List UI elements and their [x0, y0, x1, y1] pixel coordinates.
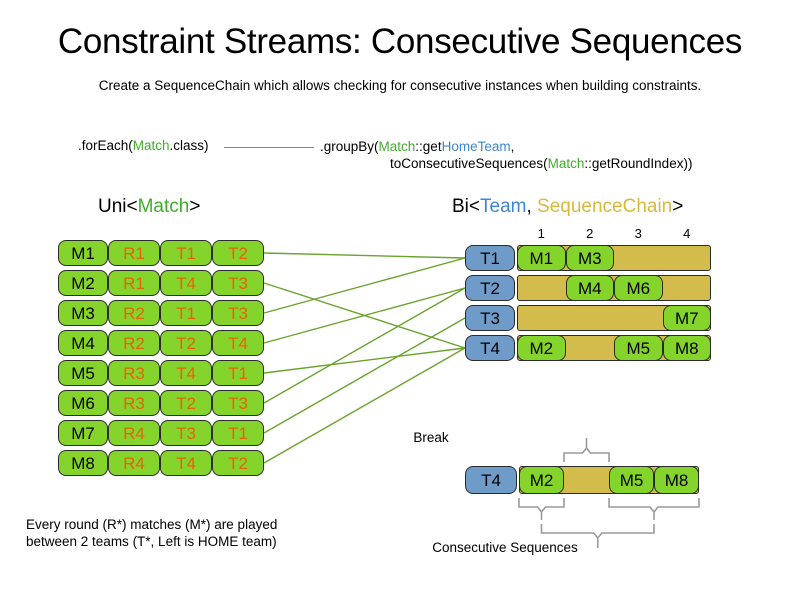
uni-cell-home-team-2: T4: [160, 270, 212, 296]
uni-cell-away-team-6-text: T3: [228, 395, 248, 412]
uni-cell-away-team-8: T2: [212, 450, 264, 476]
uni-cell-home-team-2-text: T4: [176, 275, 196, 292]
uni-cell-match-4: M4: [58, 330, 108, 356]
uni-cell-match-6: M6: [58, 390, 108, 416]
code-groupby-prop: HomeTeam: [442, 139, 511, 154]
uni-cell-away-team-1: T2: [212, 240, 264, 266]
bi-cell-T4-3: M5: [614, 335, 663, 361]
uni-cell-home-team-4-text: T2: [176, 335, 196, 352]
detail-cell-3: M5: [609, 466, 654, 494]
uni-cell-round-6: R3: [108, 390, 160, 416]
break-label: Break: [0, 430, 800, 445]
code-tocs-suffix: ::getRoundIndex)): [584, 156, 692, 171]
uni-header-prefix: Uni<: [98, 196, 138, 217]
connector-M8-to-T4: [264, 348, 465, 463]
code-groupby: .groupBy(Match::getHomeTeam,toConsecutiv…: [320, 138, 692, 172]
bi-header-value-type: SequenceChain: [537, 196, 672, 217]
bi-team-T3: T3: [465, 305, 515, 331]
uni-header-suffix: >: [189, 196, 200, 217]
detail-team-box: T4: [465, 466, 517, 494]
detail-cell-4-text: M8: [665, 472, 689, 489]
code-groupby-line2: toConsecutiveSequences(Match::getRoundIn…: [320, 155, 692, 172]
uni-cell-home-team-5: T4: [160, 360, 212, 386]
bi-cell-T2-3-text: M6: [626, 280, 650, 297]
code-groupby-comma: ,: [511, 139, 515, 154]
brace-break: [564, 448, 609, 462]
uni-cell-home-team-3-text: T1: [176, 305, 196, 322]
bi-team-T3-text: T3: [480, 310, 500, 327]
uni-cell-away-team-8-text: T2: [228, 455, 248, 472]
connector-M1-to-T1: [264, 253, 465, 258]
uni-cell-home-team-8: T4: [160, 450, 212, 476]
brace-seq-2: [609, 498, 699, 512]
uni-cell-round-3-text: R2: [123, 305, 145, 322]
code-groupby-mid: ::get: [415, 139, 441, 154]
slide-canvas: Constraint Streams: Consecutive Sequence…: [0, 0, 800, 600]
code-groupby-prefix: .groupBy(: [320, 139, 379, 154]
uni-cell-match-2-text: M2: [71, 275, 95, 292]
bi-team-T1-text: T1: [480, 250, 500, 267]
detail-cell-3-text: M5: [620, 472, 644, 489]
uni-cell-away-team-5: T1: [212, 360, 264, 386]
bi-cell-T3-4-text: M7: [675, 310, 699, 327]
uni-cell-home-team-6: T2: [160, 390, 212, 416]
uni-cell-round-2: R1: [108, 270, 160, 296]
bi-cell-T1-2: M3: [566, 245, 615, 271]
detail-cell-1-text: M2: [530, 472, 554, 489]
uni-cell-match-5: M5: [58, 360, 108, 386]
code-foreach-type: Match: [133, 138, 170, 153]
uni-cell-home-team-1: T1: [160, 240, 212, 266]
bi-cell-T4-4: M8: [663, 335, 712, 361]
connector-M7-to-T3: [264, 318, 465, 433]
bi-column-header-3: 3: [626, 226, 650, 241]
uni-cell-home-team-1-text: T1: [176, 245, 196, 262]
break-label-text: Break: [413, 430, 448, 445]
brace-seq-1: [519, 498, 564, 512]
uni-cell-round-4-text: R2: [123, 335, 145, 352]
code-tocs-type: Match: [548, 156, 585, 171]
footnote-line-2: between 2 teams (T*, Left is HOME team): [26, 533, 277, 550]
page-title: Constraint Streams: Consecutive Sequence…: [0, 22, 800, 62]
bi-cell-T4-3-text: M5: [626, 340, 650, 357]
bi-cell-T1-2-text: M3: [578, 250, 602, 267]
detail-cell-1: M2: [519, 466, 564, 494]
uni-cell-round-8-text: R4: [123, 455, 145, 472]
bi-team-T4: T4: [465, 335, 515, 361]
bi-team-T2-text: T2: [480, 280, 500, 297]
bi-cell-T4-1-text: M2: [529, 340, 553, 357]
bi-cell-T3-4: M7: [663, 305, 712, 331]
uni-cell-home-team-4: T2: [160, 330, 212, 356]
uni-cell-away-team-5-text: T1: [228, 365, 248, 382]
uni-cell-away-team-2-text: T3: [228, 275, 248, 292]
uni-cell-round-5-text: R3: [123, 365, 145, 382]
uni-cell-match-3: M3: [58, 300, 108, 326]
bi-header: Bi<Team, SequenceChain>: [452, 196, 683, 218]
uni-cell-match-8-text: M8: [71, 455, 95, 472]
uni-cell-away-team-4-text: T4: [228, 335, 248, 352]
bi-header-suffix: >: [672, 196, 683, 217]
uni-cell-match-3-text: M3: [71, 305, 95, 322]
detail-cell-4: M8: [654, 466, 699, 494]
bi-header-key-type: Team: [480, 196, 526, 217]
uni-cell-away-team-6: T3: [212, 390, 264, 416]
uni-cell-round-2-text: R1: [123, 275, 145, 292]
uni-cell-match-2: M2: [58, 270, 108, 296]
bi-cell-T1-1-text: M1: [529, 250, 553, 267]
bi-column-header-2: 2: [578, 226, 602, 241]
bi-column-header-1: 1: [529, 226, 553, 241]
uni-cell-away-team-1-text: T2: [228, 245, 248, 262]
connector-M2-to-T4: [264, 283, 465, 348]
uni-cell-home-team-8-text: T4: [176, 455, 196, 472]
footnote: Every round (R*) matches (M*) are played…: [26, 516, 277, 550]
connector-M3-to-T1: [264, 258, 465, 313]
uni-cell-round-1-text: R1: [123, 245, 145, 262]
uni-cell-home-team-6-text: T2: [176, 395, 196, 412]
bi-team-T1: T1: [465, 245, 515, 271]
bi-header-prefix: Bi<: [452, 196, 480, 217]
uni-cell-away-team-2: T3: [212, 270, 264, 296]
code-row: .forEach(Match.class) .groupBy(Match::ge…: [0, 136, 800, 182]
code-groupby-type: Match: [379, 139, 416, 154]
code-foreach: .forEach(Match.class): [78, 138, 209, 153]
connector-M6-to-T2: [264, 288, 465, 403]
uni-cell-round-1: R1: [108, 240, 160, 266]
consecutive-sequences-label-text: Consecutive Sequences: [432, 540, 578, 555]
footnote-line-1: Every round (R*) matches (M*) are played: [26, 516, 277, 533]
bi-cell-T4-4-text: M8: [675, 340, 699, 357]
uni-cell-match-8: M8: [58, 450, 108, 476]
code-foreach-suffix: .class): [170, 138, 209, 153]
uni-cell-away-team-3-text: T3: [228, 305, 248, 322]
bi-team-T4-text: T4: [480, 340, 500, 357]
code-connector-line: [224, 147, 314, 148]
brace-seq-all: [542, 524, 655, 538]
uni-cell-match-6-text: M6: [71, 395, 95, 412]
bi-column-header-4: 4: [675, 226, 699, 241]
uni-cell-match-1-text: M1: [71, 245, 95, 262]
uni-header-type: Match: [138, 196, 190, 217]
uni-cell-away-team-4: T4: [212, 330, 264, 356]
bi-cell-T1-1: M1: [517, 245, 566, 271]
bi-cell-T2-2-text: M4: [578, 280, 602, 297]
uni-cell-round-8: R4: [108, 450, 160, 476]
uni-cell-round-5: R3: [108, 360, 160, 386]
code-tocs-prefix: toConsecutiveSequences(: [390, 156, 548, 171]
bi-cell-T2-3: M6: [614, 275, 663, 301]
bi-cell-T4-1: M2: [517, 335, 566, 361]
uni-cell-round-4: R2: [108, 330, 160, 356]
code-foreach-prefix: .forEach(: [78, 138, 133, 153]
uni-cell-round-6-text: R3: [123, 395, 145, 412]
connector-M4-to-T2: [264, 288, 465, 343]
bi-cell-T2-2: M4: [566, 275, 615, 301]
bi-header-separator: ,: [526, 196, 537, 217]
uni-cell-match-1: M1: [58, 240, 108, 266]
uni-cell-match-5-text: M5: [71, 365, 95, 382]
uni-cell-away-team-3: T3: [212, 300, 264, 326]
uni-cell-round-3: R2: [108, 300, 160, 326]
uni-cell-home-team-5-text: T4: [176, 365, 196, 382]
bi-team-T2: T2: [465, 275, 515, 301]
uni-header: Uni<Match>: [98, 196, 200, 218]
connector-M5-to-T4: [264, 348, 465, 373]
uni-cell-home-team-3: T1: [160, 300, 212, 326]
detail-team-box-text: T4: [481, 472, 501, 489]
page-subtitle: Create a SequenceChain which allows chec…: [0, 78, 800, 93]
uni-cell-match-4-text: M4: [71, 335, 95, 352]
